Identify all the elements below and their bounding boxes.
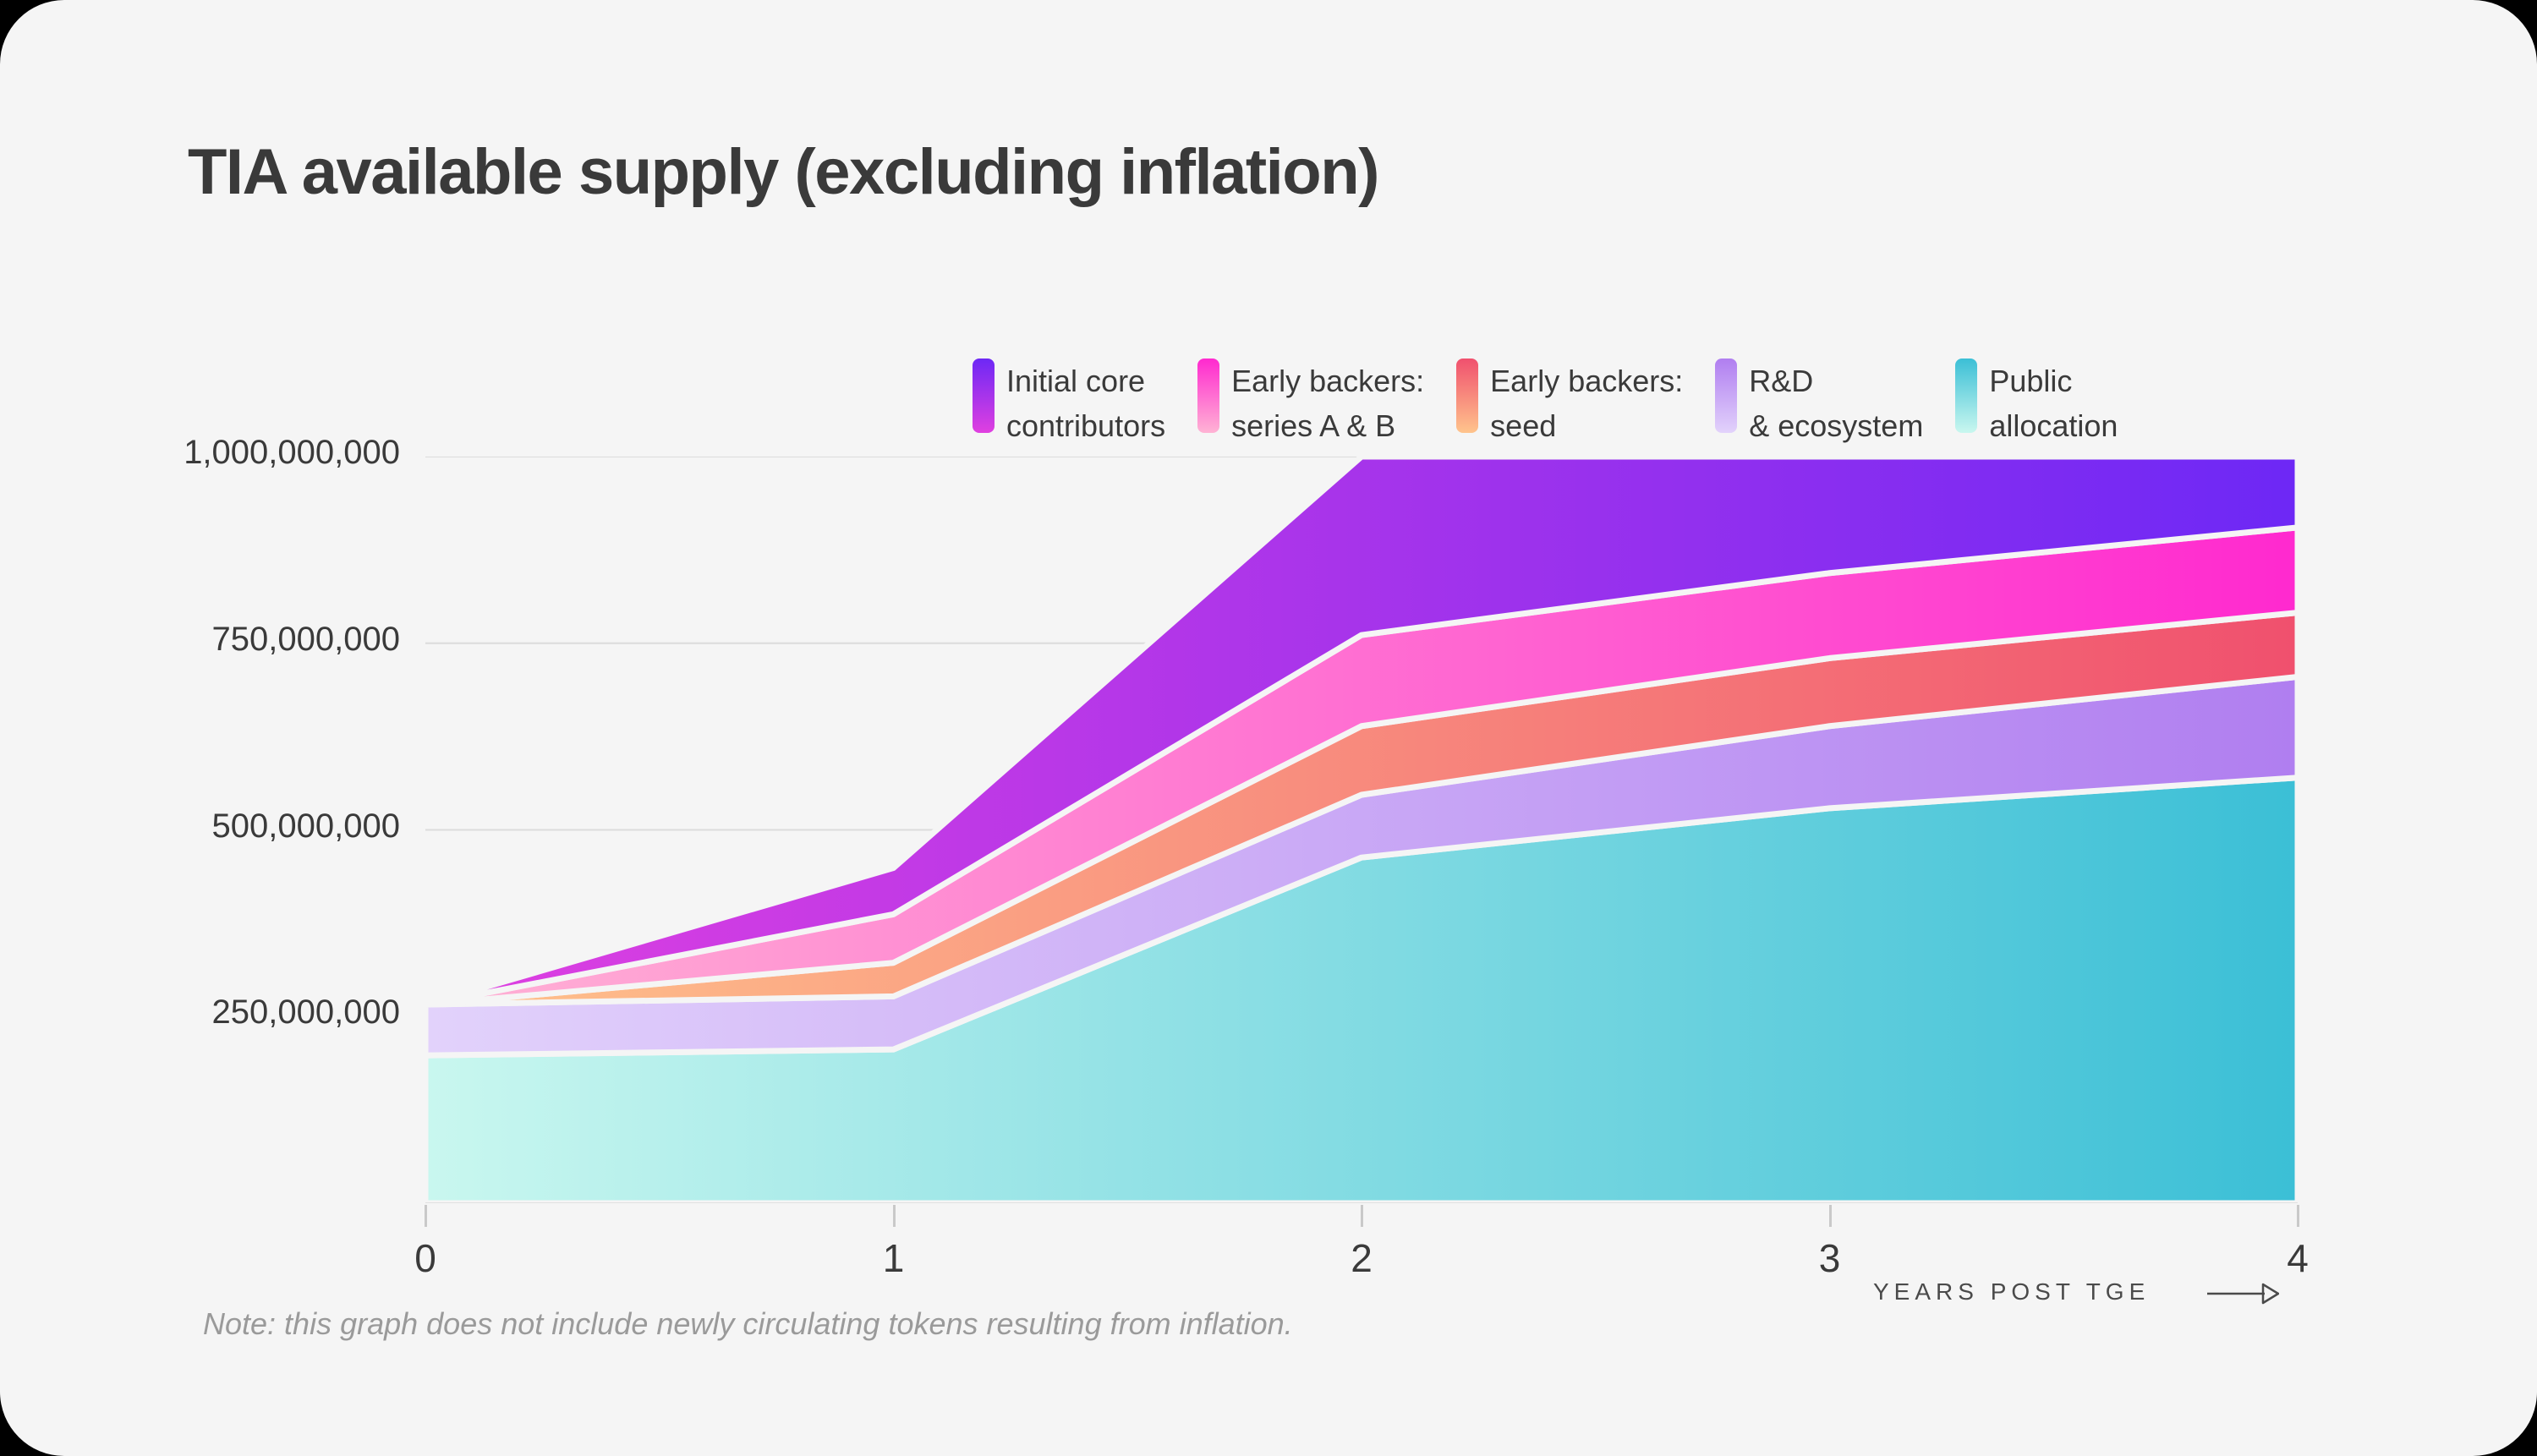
legend-item[interactable]: Early backers:seed xyxy=(1456,359,1683,448)
legend-swatch-icon xyxy=(1715,359,1737,433)
legend-label-line2: contributors xyxy=(1006,403,1165,448)
legend-swatch-icon xyxy=(1456,359,1478,433)
x-axis-tick-label: 1 xyxy=(860,1235,928,1281)
legend-item[interactable]: R&D& ecosystem xyxy=(1715,359,1923,448)
legend-swatch-icon xyxy=(973,359,995,433)
legend-label-line2: allocation xyxy=(1989,403,2118,448)
legend-label-line2: seed xyxy=(1490,403,1683,448)
y-axis-tick-label: 250,000,000 xyxy=(28,993,400,1032)
x-axis-tick xyxy=(1829,1205,1832,1227)
legend-item[interactable]: Publicallocation xyxy=(1955,359,2118,448)
x-axis-tick xyxy=(425,1205,427,1227)
x-axis-caption: YEARS POST TGE xyxy=(1873,1278,2150,1305)
x-axis-tick-label: 2 xyxy=(1328,1235,1395,1281)
chart-card: TIA available supply (excluding inflatio… xyxy=(0,0,2537,1456)
legend-label-line2: & ecosystem xyxy=(1749,403,1923,448)
y-axis-tick-label: 500,000,000 xyxy=(28,807,400,846)
legend-label-line1: Public xyxy=(1989,359,2118,403)
y-axis-tick-label: 750,000,000 xyxy=(28,621,400,659)
chart-note: Note: this graph does not include newly … xyxy=(203,1306,1293,1342)
x-axis-tick-label: 3 xyxy=(1796,1235,1864,1281)
legend-label-line2: series A & B xyxy=(1231,403,1424,448)
legend-item[interactable]: Initial corecontributors xyxy=(973,359,1165,448)
legend-label: Early backers:series A & B xyxy=(1231,359,1424,448)
chart-legend: Initial corecontributorsEarly backers:se… xyxy=(973,359,2150,448)
legend-label: Publicallocation xyxy=(1989,359,2118,448)
arrow-right-icon xyxy=(2207,1282,2279,1305)
x-axis-tick xyxy=(1361,1205,1363,1227)
page-title: TIA available supply (excluding inflatio… xyxy=(188,135,1378,209)
legend-label-line1: Early backers: xyxy=(1490,359,1683,403)
x-axis-tick-label: 4 xyxy=(2264,1235,2332,1281)
y-axis-tick-label: 1,000,000,000 xyxy=(28,434,400,472)
chart-plot-area xyxy=(425,457,2298,1203)
x-axis-tick-label: 0 xyxy=(392,1235,459,1281)
x-axis-tick xyxy=(893,1205,896,1227)
legend-label-line1: R&D xyxy=(1749,359,1923,403)
legend-swatch-icon xyxy=(1955,359,1977,433)
legend-item[interactable]: Early backers:series A & B xyxy=(1197,359,1424,448)
legend-label-line1: Early backers: xyxy=(1231,359,1424,403)
legend-swatch-icon xyxy=(1197,359,1219,433)
x-axis-tick xyxy=(2297,1205,2299,1227)
legend-label: R&D& ecosystem xyxy=(1749,359,1923,448)
stacked-area-chart xyxy=(425,457,2298,1203)
legend-label: Early backers:seed xyxy=(1490,359,1683,448)
legend-label: Initial corecontributors xyxy=(1006,359,1165,448)
legend-label-line1: Initial core xyxy=(1006,359,1165,403)
